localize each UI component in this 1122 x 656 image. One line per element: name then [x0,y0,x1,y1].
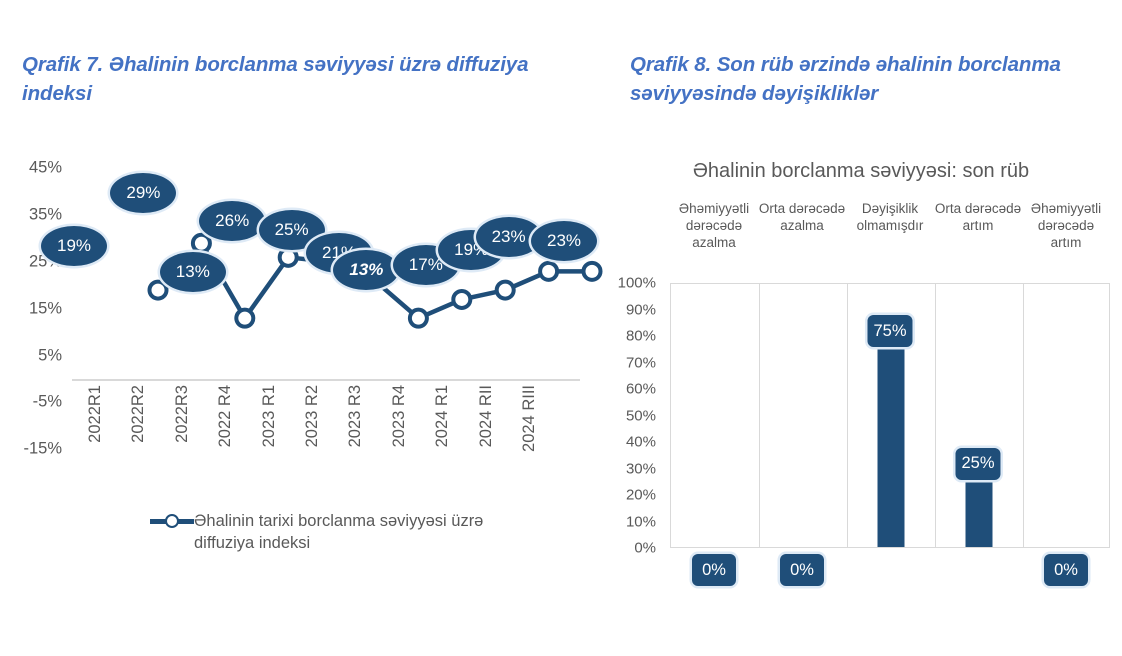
bar-chart-data-label: 0% [1044,554,1088,586]
bar-chart-category-label: Əhəmiyyətli dərəcədə artım [1022,200,1110,251]
line-chart-y-tick: 45% [0,159,62,178]
figure-7-title: Qrafik 7. Əhalinin borclanma səviyyəsi ü… [22,50,582,108]
bar-chart-y-tick: 60% [600,381,656,398]
bar-chart-category-separator [1023,284,1024,547]
series-marker [150,282,167,299]
line-chart-y-tick: 35% [0,206,62,225]
bar-chart-y-tick: 50% [600,407,656,424]
line-chart-x-tick: 2024 RIII [520,385,539,452]
bar-chart-category-labels: Əhəmiyyətli dərəcədə azalmaOrta dərəcədə… [600,200,1122,262]
line-chart-x-tick: 2022 R4 [216,385,235,447]
bar-chart-category-separator [935,284,936,547]
figure-8-title: Qrafik 8. Son rüb ərzində əhalinin borcl… [630,50,1110,108]
series-marker [236,310,253,327]
bar [878,348,905,547]
bar-chart-y-tick: 30% [600,460,656,477]
bar-chart-y-tick: 40% [600,434,656,451]
line-chart-x-tick: 2022R2 [129,385,148,443]
line-chart-x-tick: 2022R1 [86,385,105,443]
line-chart-x-tick: 2023 R2 [303,385,322,447]
legend-label: Əhalinin tarixi borclanma səviyyəsi üzrə… [194,510,484,554]
bar-chart-category-label: Dəyişiklik olmamışdır [846,200,934,234]
bar-chart-category-label: Orta dərəcədə azalma [758,200,846,234]
bar-chart-y-tick: 70% [600,354,656,371]
line-chart-data-label: 23% [531,221,597,261]
line-chart-x-tick: 2023 R1 [260,385,279,447]
series-marker [584,263,601,280]
bar-chart-title: Əhalinin borclanma səviyyəsi: son rüb [600,160,1122,183]
bar-chart-data-label: 25% [955,448,1000,480]
bar-chart-data-label: 0% [692,554,736,586]
line-chart-y-tick: 5% [0,346,62,365]
bar-chart-data-label: 75% [867,315,912,347]
line-chart-x-tick: 2023 R4 [390,385,409,447]
line-chart-legend: Əhalinin tarixi borclanma səviyyəsi üzrə… [150,510,550,554]
bar-chart-category-separator [759,284,760,547]
bar-chart-category-label: Əhəmiyyətli dərəcədə azalma [670,200,758,251]
line-chart-data-label: 13% [160,252,226,292]
bar-chart-y-tick: 0% [600,540,656,557]
line-chart-data-label: 29% [110,173,176,213]
line-chart-x-tick: 2024 RII [477,385,496,447]
bar-chart-y-tick: 100% [600,275,656,292]
series-marker [497,282,514,299]
line-chart-y-tick: 15% [0,299,62,318]
bar [966,481,993,547]
bar-chart-y-tick: 20% [600,487,656,504]
series-marker [193,235,210,252]
bar-chart-y-tick: 10% [600,513,656,530]
bar-chart-y-tick: 80% [600,328,656,345]
line-chart-x-tick: 2022R3 [173,385,192,443]
bar-chart-category-separator [847,284,848,547]
line-chart-data-label: 19% [41,226,107,266]
bar-chart-category-label: Orta dərəcədə artım [934,200,1022,234]
bar-chart-data-label: 0% [780,554,824,586]
series-marker [453,291,470,308]
series-marker [410,310,427,327]
legend-line-marker-icon [150,512,194,530]
line-chart-x-axis: 2022R12022R22022R32022 R42023 R12023 R22… [0,385,600,505]
line-chart-x-tick: 2023 R3 [346,385,365,447]
series-marker [540,263,557,280]
bar-chart-y-tick: 90% [600,301,656,318]
line-chart-data-label: 13% [333,250,399,290]
line-chart-x-tick: 2024 R1 [433,385,452,447]
last-quarter-change-bar-chart: Əhalinin borclanma səviyyəsi: son rüb Əh… [600,140,1122,580]
series-marker [280,249,297,266]
line-chart-data-label: 26% [199,201,265,241]
diffusion-index-line-chart: 45%35%25%15%5%-5%-15% 19%29%13%26%25%21%… [0,140,600,570]
